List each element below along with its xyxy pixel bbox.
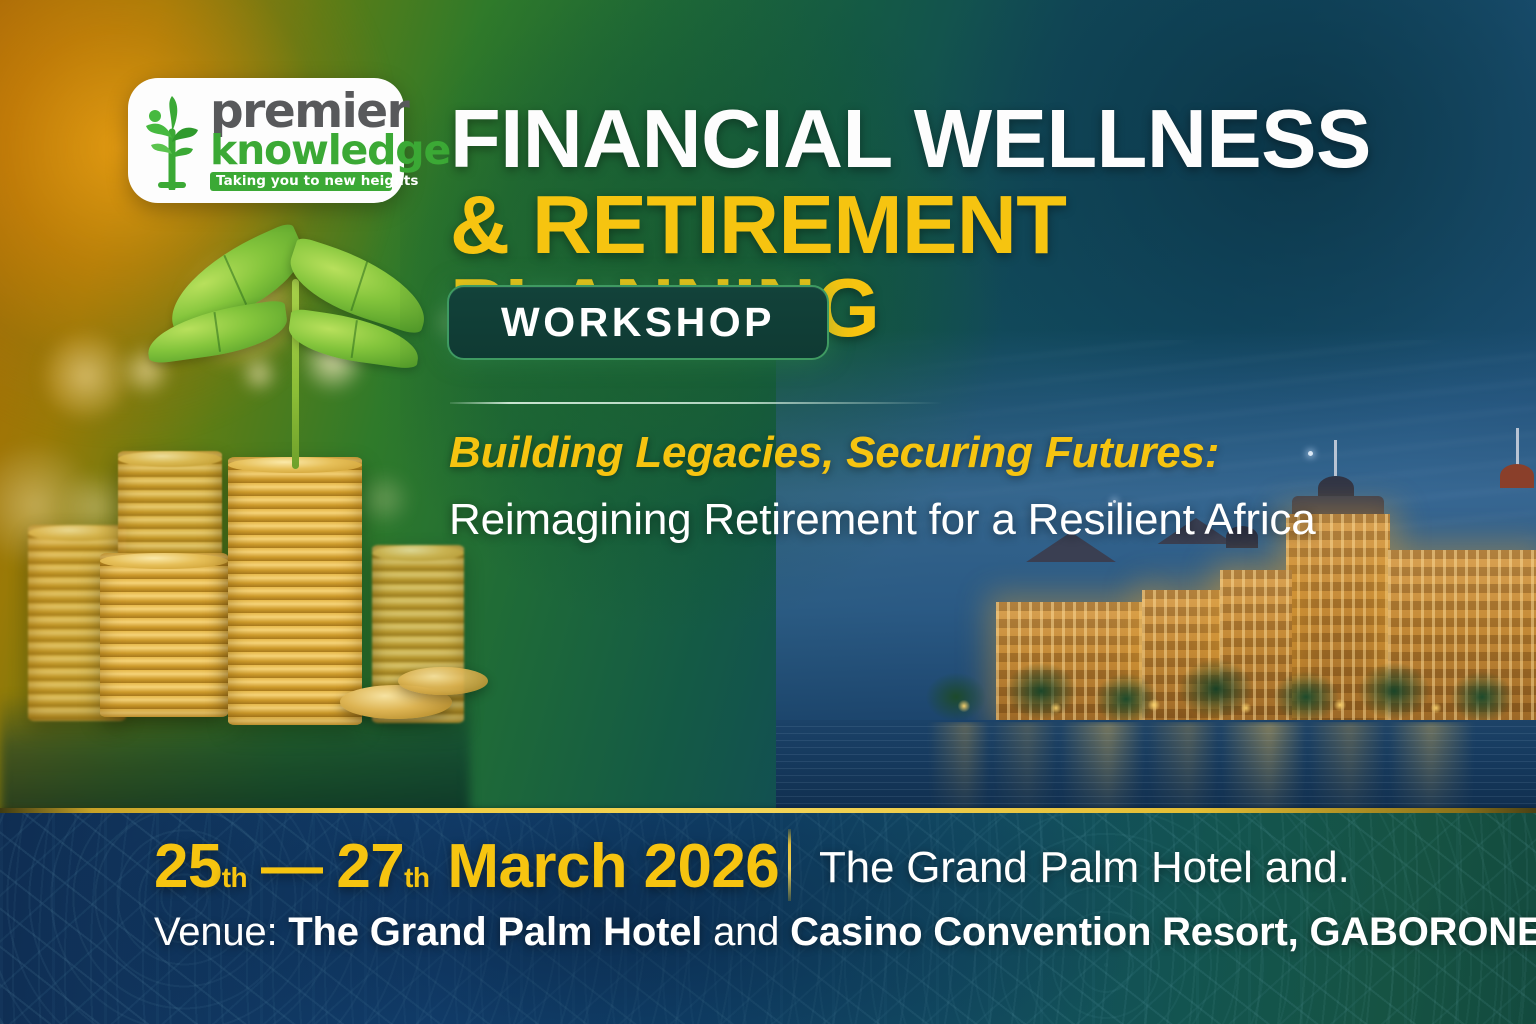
building-spire — [1516, 428, 1519, 468]
plant-stem — [292, 279, 299, 469]
premier-knowledge-logo[interactable]: premier knowledge Taking you to new heig… — [128, 78, 404, 203]
date-month-year: March 2026 — [447, 831, 779, 902]
headline-line-1: FINANCIAL WELLNESS — [450, 98, 1450, 179]
plant-tree-icon — [142, 92, 204, 190]
hotel-name-short: The Grand Palm Hotel and. — [819, 843, 1350, 893]
logo-text-knowledge: knowledge — [210, 131, 392, 170]
venue-line: Venue: The Grand Palm Hotel and Casino C… — [154, 910, 1536, 955]
venue-name-secondary: Casino Convention Resort, — [790, 910, 1298, 954]
date-start: 25 — [154, 831, 222, 902]
venue-name-primary: The Grand Palm Hotel — [288, 910, 702, 954]
event-dates: 25th — 27th March 2026 — [154, 831, 779, 902]
tagline-subtitle: Reimagining Retirement for a Resilient A… — [449, 495, 1316, 545]
coin-stack-main — [228, 457, 362, 725]
workshop-badge: WORKSHOP — [447, 285, 829, 360]
logo-wordmark: premier knowledge Taking you to new heig… — [210, 90, 392, 192]
venue-label: Venue: — [154, 910, 277, 954]
section-divider — [450, 402, 942, 404]
venue-conjunction: and — [713, 910, 779, 954]
tagline-emphasis: Building Legacies, Securing Futures: — [449, 428, 1219, 478]
event-banner: premier knowledge Taking you to new heig… — [0, 0, 1536, 1024]
workshop-badge-label: WORKSHOP — [501, 299, 775, 346]
logo-tagline: Taking you to new heights — [210, 172, 392, 191]
star-icon — [1308, 451, 1313, 456]
date-dash: — — [261, 831, 322, 902]
building-dome — [1500, 464, 1534, 488]
footer-vertical-divider — [788, 829, 791, 901]
building-spire — [1334, 440, 1337, 476]
date-end: 27 — [336, 831, 404, 902]
venue-city: GABORONE, — [1309, 910, 1536, 954]
coin-stack — [100, 553, 228, 717]
